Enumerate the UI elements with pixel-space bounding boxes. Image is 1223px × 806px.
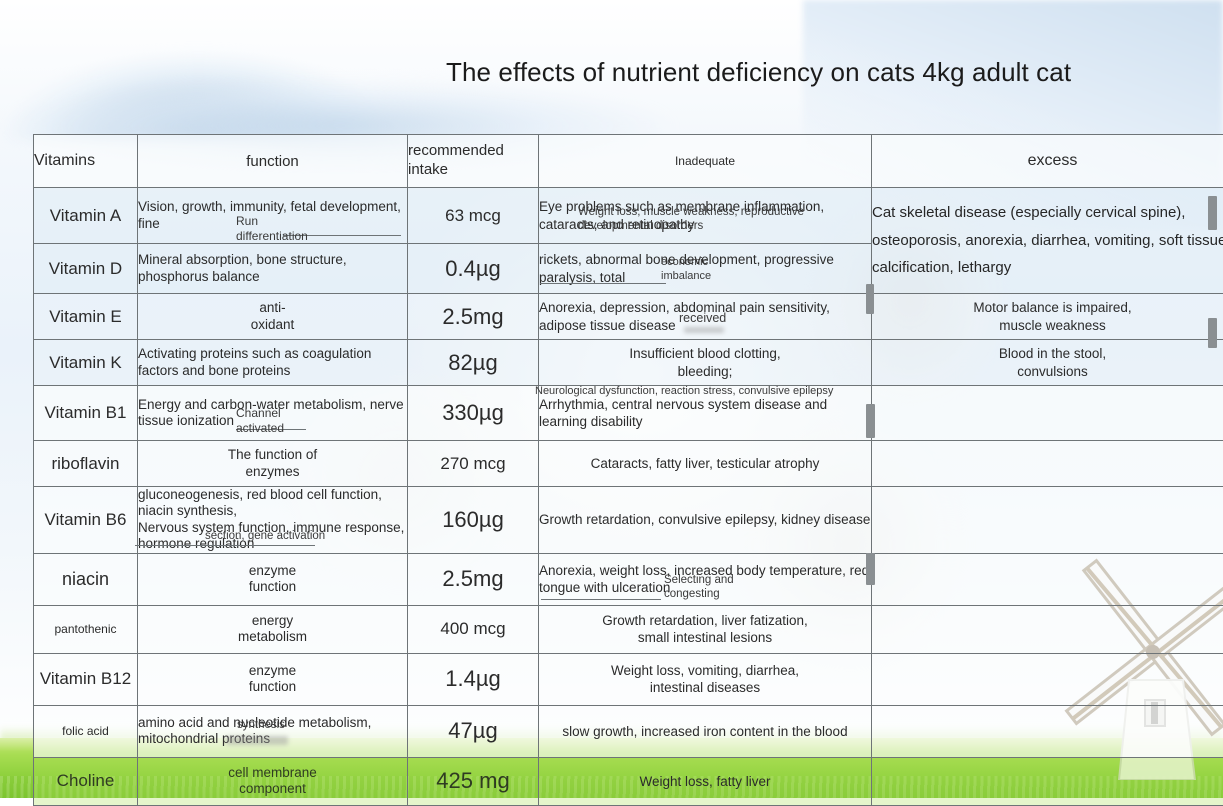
- overlay-smudge: [226, 736, 288, 745]
- cell-vitamin: Vitamin B1: [34, 386, 138, 441]
- table-row: Choline cell membrane component 425 mg W…: [34, 757, 1223, 805]
- overlay-fragment-economic-imbalance: economic imbalance: [661, 256, 711, 284]
- cell-excess: [872, 441, 1223, 487]
- overlay-rule: [135, 545, 315, 546]
- table-row: Vitamin B12 enzyme function 1.4µg Weight…: [34, 653, 1223, 705]
- cell-excess: Cat skeletal disease (especially cervica…: [872, 188, 1223, 294]
- table-row: riboflavin The function of enzymes 270 m…: [34, 441, 1223, 487]
- cell-function: Mineral absorption, bone structure, phos…: [138, 244, 408, 294]
- cell-inadequate: Cataracts, fatty liver, testicular atrop…: [539, 441, 872, 487]
- column-header-inadequate: Inadequate: [539, 135, 872, 188]
- cell-recommended-intake: 270 mcg: [408, 441, 539, 487]
- overlay-rule: [541, 599, 661, 600]
- cell-inadequate: Insufficient blood clotting, bleeding;: [539, 340, 872, 386]
- cell-excess: Motor balance is impaired, muscle weakne…: [872, 294, 1223, 340]
- overlay-fragment-channel-activated: Channel activated: [236, 406, 284, 436]
- overlay-fragment-received: received: [679, 311, 726, 327]
- handle-artifact: [866, 553, 875, 585]
- cell-excess: [872, 553, 1223, 605]
- cell-recommended-intake: 425 mg: [408, 757, 539, 805]
- overlay-rule: [540, 283, 666, 284]
- cell-vitamin: niacin: [34, 553, 138, 605]
- header-row: Vitamins function recommended intake Ina…: [34, 135, 1223, 188]
- cell-inadequate: Growth retardation, convulsive epilepsy,…: [539, 487, 872, 554]
- cell-inadequate: slow growth, increased iron content in t…: [539, 705, 872, 757]
- cell-excess: Blood in the stool, convulsions: [872, 340, 1223, 386]
- nutrient-deficiency-table: Vitamins function recommended intake Ina…: [33, 134, 1223, 806]
- table-row: folic acid amino acid and nucleotide met…: [34, 705, 1223, 757]
- table-row: niacin enzyme function 2.5mg Anorexia, w…: [34, 553, 1223, 605]
- cell-inadequate: Weight loss, vomiting, diarrhea, intesti…: [539, 653, 872, 705]
- cell-recommended-intake: 330µg: [408, 386, 539, 441]
- cell-recommended-intake: 82µg: [408, 340, 539, 386]
- handle-artifact: [1208, 196, 1217, 230]
- cell-inadequate: Weight loss, fatty liver: [539, 757, 872, 805]
- page-title: The effects of nutrient deficiency on ca…: [446, 56, 1086, 89]
- cell-inadequate: Growth retardation, liver fatization, sm…: [539, 605, 872, 653]
- cell-vitamin: Choline: [34, 757, 138, 805]
- cell-excess: [872, 487, 1223, 554]
- cell-vitamin: Vitamin K: [34, 340, 138, 386]
- table-row: pantothenic energy metabolism 400 mcg Gr…: [34, 605, 1223, 653]
- column-header-recommended-intake: recommended intake: [408, 135, 539, 188]
- cell-excess: [872, 705, 1223, 757]
- column-header-function: function: [138, 135, 408, 188]
- cell-function: energy metabolism: [138, 605, 408, 653]
- cell-excess: [872, 653, 1223, 705]
- cell-excess: [872, 757, 1223, 805]
- cell-function: Activating proteins such as coagulation …: [138, 340, 408, 386]
- overlay-fragment-neurological: Neurological dysfunction, reaction stres…: [535, 385, 833, 399]
- cell-vitamin: Vitamin D: [34, 244, 138, 294]
- cell-function: enzyme function: [138, 653, 408, 705]
- cell-vitamin: Vitamin B6: [34, 487, 138, 554]
- handle-artifact: [1208, 318, 1217, 348]
- overlay-fragment-weight-loss: Weight loss, muscle weakness, reproducti…: [578, 205, 804, 234]
- handle-artifact: [866, 404, 875, 438]
- cell-recommended-intake: 160µg: [408, 487, 539, 554]
- handle-artifact: [866, 284, 874, 314]
- cell-excess: [872, 605, 1223, 653]
- cell-recommended-intake: 47µg: [408, 705, 539, 757]
- cell-vitamin: pantothenic: [34, 605, 138, 653]
- cell-function: The function of enzymes: [138, 441, 408, 487]
- cell-vitamin: riboflavin: [34, 441, 138, 487]
- table-body: Vitamin A Vision, growth, immunity, feta…: [34, 188, 1223, 806]
- overlay-fragment-gene-activation: section, gene activation: [205, 529, 325, 543]
- cell-recommended-intake: 400 mcg: [408, 605, 539, 653]
- cell-function: enzyme function: [138, 553, 408, 605]
- overlay-fragment-synthesis: synthesis: [237, 718, 285, 732]
- cell-recommended-intake: 0.4µg: [408, 244, 539, 294]
- cell-recommended-intake: 2.5mg: [408, 553, 539, 605]
- cell-function: cell membrane component: [138, 757, 408, 805]
- cell-recommended-intake: 2.5mg: [408, 294, 539, 340]
- table-row: Vitamin K Activating proteins such as co…: [34, 340, 1223, 386]
- cell-excess: [872, 386, 1223, 441]
- overlay-fragment-run-differentiation: Run differentiation: [236, 214, 308, 244]
- overlay-smudge: [684, 327, 724, 333]
- table-header: Vitamins function recommended intake Ina…: [34, 135, 1223, 188]
- column-header-vitamins: Vitamins: [34, 135, 138, 188]
- cell-vitamin: Vitamin B12: [34, 653, 138, 705]
- cell-function: anti- oxidant: [138, 294, 408, 340]
- cell-vitamin: folic acid: [34, 705, 138, 757]
- overlay-fragment-selecting-congesting: Selecting and congesting: [664, 573, 734, 602]
- cell-recommended-intake: 1.4µg: [408, 653, 539, 705]
- nutrient-table-container: Vitamins function recommended intake Ina…: [33, 134, 1223, 806]
- cell-recommended-intake: 63 mcg: [408, 188, 539, 244]
- column-header-excess: excess: [872, 135, 1223, 188]
- table-row: Vitamin E anti- oxidant 2.5mg Anorexia, …: [34, 294, 1223, 340]
- cell-vitamin: Vitamin A: [34, 188, 138, 244]
- cell-vitamin: Vitamin E: [34, 294, 138, 340]
